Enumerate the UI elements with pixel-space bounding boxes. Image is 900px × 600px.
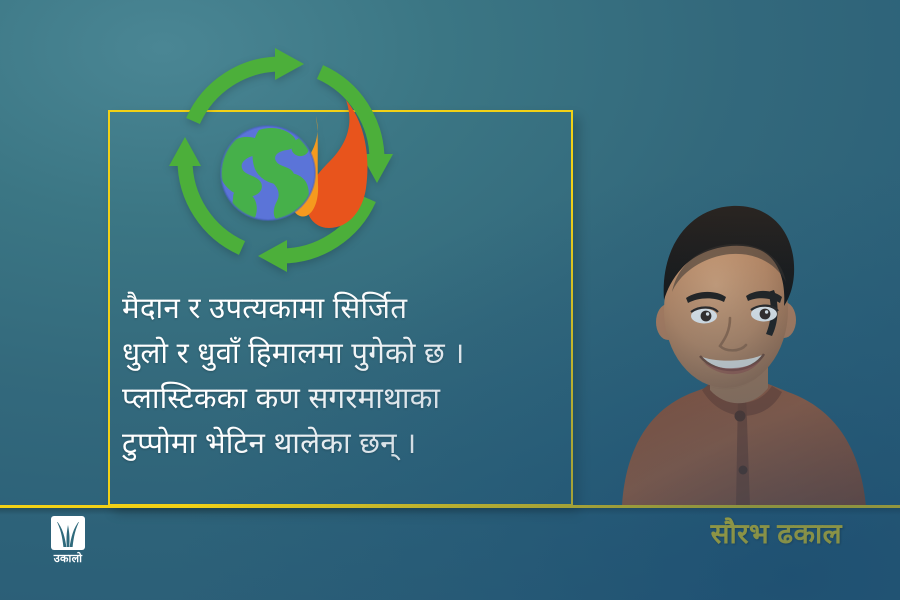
- poster-canvas: मैदान र उपत्यकामा सिर्जित धुलो र धुवाँ ह…: [0, 0, 900, 600]
- quote-line-4: टुप्पोमा भेटिन थालेका छन् ।: [122, 421, 574, 466]
- quote-line-2: धुलो र धुवाँ हिमालमा पुगेको छ ।: [122, 331, 574, 376]
- author-portrait: [560, 140, 900, 506]
- quote-text: मैदान र उपत्यकामा सिर्जित धुलो र धुवाँ ह…: [122, 286, 574, 466]
- quote-line-3: प्लास्टिकका कण सगरमाथाका: [122, 376, 574, 421]
- recycle-globe-flame-emblem: [163, 42, 399, 278]
- ukalo-logo-icon: [51, 516, 85, 550]
- ukalo-brand[interactable]: उकालो: [36, 516, 100, 578]
- author-name: सौरभ ढकाल: [711, 514, 842, 552]
- quote-line-1: मैदान र उपत्यकामा सिर्जित: [122, 286, 574, 331]
- ukalo-logo-label: उकालो: [36, 551, 100, 566]
